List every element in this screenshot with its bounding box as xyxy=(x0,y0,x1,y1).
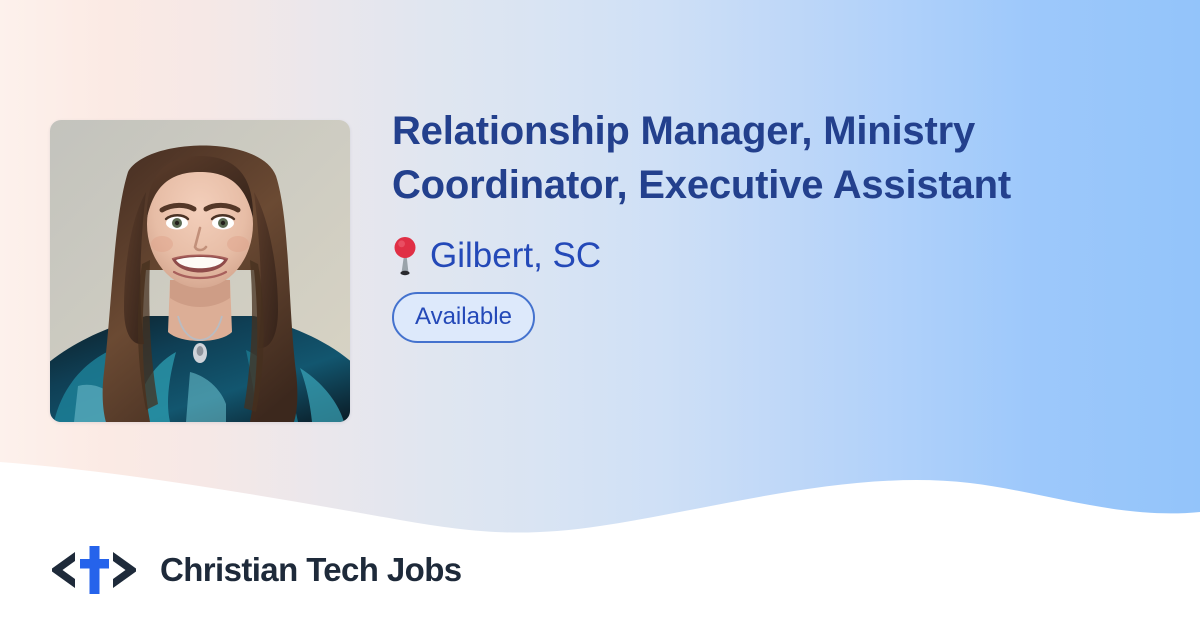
candidate-info: Relationship Manager, Ministry Coordinat… xyxy=(392,104,1112,343)
round-pushpin-icon xyxy=(392,236,418,276)
candidate-photo xyxy=(50,120,350,422)
brand-footer: Christian Tech Jobs xyxy=(50,544,462,596)
location-row: Gilbert, SC xyxy=(392,236,1112,276)
status-badge: Available xyxy=(392,292,535,343)
location-text: Gilbert, SC xyxy=(430,236,601,276)
code-brackets-cross-icon xyxy=(50,544,138,596)
brand-wordmark: Christian Tech Jobs xyxy=(160,552,462,588)
job-title: Relationship Manager, Ministry Coordinat… xyxy=(392,104,1092,212)
share-card: Relationship Manager, Ministry Coordinat… xyxy=(0,0,1200,630)
